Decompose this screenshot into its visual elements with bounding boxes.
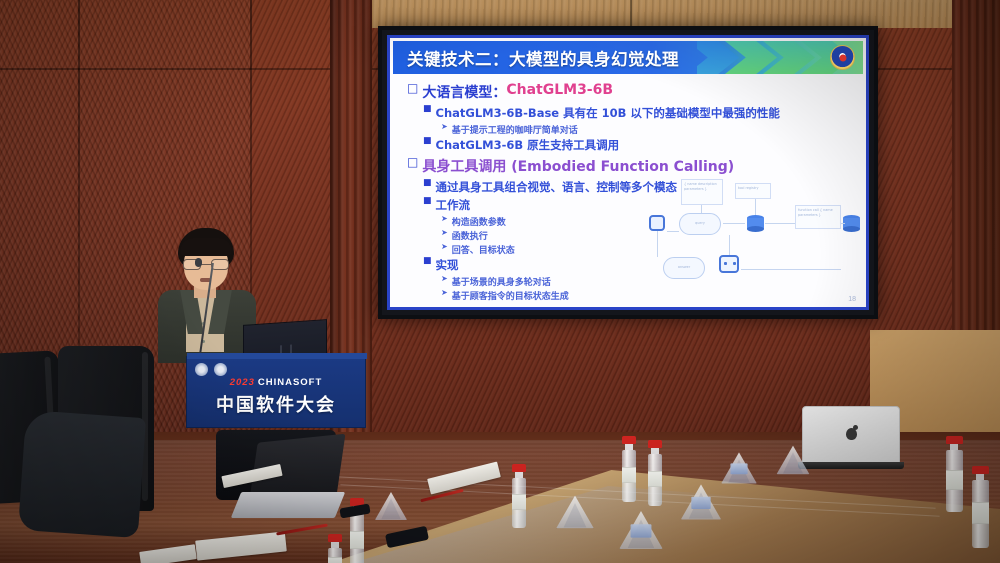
podium-top-edge	[187, 353, 367, 359]
diagram-connector	[755, 199, 756, 215]
bottle-label	[512, 494, 526, 510]
laptop-base	[798, 462, 904, 469]
arrow-bullet-icon: ➤	[441, 289, 448, 297]
answer-cloud-icon: answer	[663, 257, 705, 279]
bullet-text: 回答、目标状态	[452, 243, 515, 256]
bottle-label	[946, 470, 963, 490]
podium-logos	[195, 363, 227, 376]
arrow-bullet-icon: ➤	[441, 275, 448, 283]
slide: 关键技术二：大模型的具身幻觉处理 □ 大语言模型： ChatGLM3-6B ■ …	[387, 35, 869, 310]
bottle-label	[328, 557, 342, 563]
bottle-label	[648, 471, 662, 488]
bullet-level1: □ 具身工具调用 (Embodied Function Calling)	[407, 156, 853, 176]
presenter-fringe	[180, 238, 232, 256]
bullet-level3: ➤ 基于提示工程的咖啡厅简单对话	[441, 123, 853, 136]
square-bullet-icon: ■	[423, 137, 432, 146]
glasses-icon	[183, 259, 229, 270]
bullet-level2: ■ ChatGLM3-6B 原生支持工具调用	[423, 137, 853, 153]
bottle-cap	[512, 464, 526, 472]
title-chevron-graphics	[697, 41, 847, 74]
bullet-accent-text: ChatGLM3-6B	[506, 82, 613, 98]
diagram-connector	[723, 223, 745, 224]
podium-year: 2023	[230, 377, 255, 388]
square-bullet-icon: ■	[423, 197, 432, 206]
database-icon	[747, 215, 764, 234]
water-bottle	[328, 534, 342, 563]
arrow-bullet-icon: ➤	[441, 229, 448, 237]
bullet-text: 工作流	[436, 197, 471, 213]
conference-podium: 2023CHINASOFT 中国软件大会	[186, 356, 366, 428]
microphone-head-icon	[195, 258, 202, 267]
function-calling-flow-diagram: { name description parameters } tool reg…	[647, 179, 862, 289]
bullet-text: 函数执行	[452, 229, 488, 242]
podium-english-title: 2023CHINASOFT	[187, 377, 365, 388]
bullet-text: 大语言模型：	[422, 82, 506, 102]
bullet-text: 基于提示工程的咖啡厅简单对话	[452, 123, 578, 136]
robot-icon	[719, 255, 739, 273]
bullet-level2: ■ ChatGLM3-6B-Base 具有在 10B 以下的基础模型中最强的性能	[423, 105, 853, 121]
bottle-cap	[946, 436, 963, 444]
podium-chinese-title: 中国软件大会	[187, 391, 365, 417]
slide-title: 关键技术二：大模型的具身幻觉处理	[407, 46, 679, 70]
user-icon	[649, 215, 665, 231]
bottle-label	[972, 502, 989, 524]
square-bullet-icon: □	[407, 156, 418, 168]
name-card-holder	[681, 484, 721, 519]
bullet-text: 实现	[436, 257, 459, 273]
diagram-connector	[841, 223, 845, 224]
name-card-holder	[619, 511, 663, 549]
diagram-tool-registry-box: tool registry	[735, 183, 771, 199]
draped-coat	[18, 410, 146, 538]
diagram-connector	[667, 231, 679, 232]
arrow-bullet-icon: ➤	[441, 243, 448, 251]
diagram-tool-description-box: { name description parameters }	[681, 179, 723, 205]
bullet-level3: ➤ 基于顾客指令的目标状态生成	[441, 289, 853, 302]
query-cloud-icon: query	[679, 213, 721, 235]
bottle-cap	[328, 534, 342, 542]
water-bottle	[972, 466, 989, 548]
diagram-query-label: query	[680, 214, 720, 228]
name-card-holder	[375, 492, 407, 520]
square-bullet-icon: ■	[423, 105, 432, 114]
water-bottle	[946, 436, 963, 512]
university-emblem-icon	[830, 45, 855, 70]
arrow-bullet-icon: ➤	[441, 123, 448, 131]
bullet-text: ChatGLM3-6B-Base 具有在 10B 以下的基础模型中最强的性能	[436, 105, 780, 121]
bottle-label	[622, 467, 636, 484]
diagram-answer-label: answer	[664, 258, 704, 272]
diagram-connector	[729, 235, 730, 255]
podium-event-name: CHINASOFT	[258, 377, 322, 388]
macbook-laptop	[802, 406, 900, 464]
water-bottle	[622, 436, 636, 502]
bottle-cap	[648, 440, 662, 448]
bullet-text: 具身工具调用 (Embodied Function Calling)	[422, 156, 734, 176]
bullet-text: 构造函数参数	[452, 215, 506, 228]
diagram-connector	[657, 231, 658, 257]
arrow-bullet-icon: ➤	[441, 215, 448, 223]
name-card-holder	[776, 446, 809, 475]
diagram-connector	[741, 269, 841, 270]
slide-page-number: 18	[848, 296, 856, 303]
organization-logo-icon	[214, 363, 227, 376]
diagram-function-call-box: function call { name parameters }	[795, 205, 841, 229]
slide-title-bar: 关键技术二：大模型的具身幻觉处理	[393, 41, 863, 74]
bottle-cap	[972, 466, 989, 474]
name-card-holder	[556, 496, 594, 529]
bottle-label	[350, 531, 364, 550]
bullet-text: 通过具身工具组合视觉、语言、控制等多个模态	[436, 179, 678, 195]
presentation-display: 关键技术二：大模型的具身幻觉处理 □ 大语言模型： ChatGLM3-6B ■ …	[378, 26, 878, 319]
bullet-text: 基于场景的具身多轮对话	[452, 275, 551, 288]
diagram-connector	[701, 205, 702, 213]
name-card-holder	[721, 452, 757, 483]
laptop-base	[231, 492, 346, 518]
square-bullet-icon: □	[407, 82, 418, 94]
bullet-text: 基于顾客指令的目标状态生成	[452, 289, 569, 302]
organization-logo-icon	[195, 363, 208, 376]
apple-logo-icon	[846, 428, 857, 440]
database-icon	[843, 215, 860, 234]
bullet-level1: □ 大语言模型： ChatGLM3-6B	[407, 82, 853, 102]
bottle-cap	[622, 436, 636, 444]
upper-wood-seam	[372, 0, 632, 28]
bullet-text: ChatGLM3-6B 原生支持工具调用	[436, 137, 620, 153]
water-bottle	[648, 440, 662, 506]
square-bullet-icon: ■	[423, 179, 432, 188]
square-bullet-icon: ■	[423, 257, 432, 266]
conference-room-scene: 关键技术二：大模型的具身幻觉处理 □ 大语言模型： ChatGLM3-6B ■ …	[0, 0, 1000, 563]
water-bottle	[512, 464, 526, 528]
diagram-connector	[765, 223, 795, 224]
